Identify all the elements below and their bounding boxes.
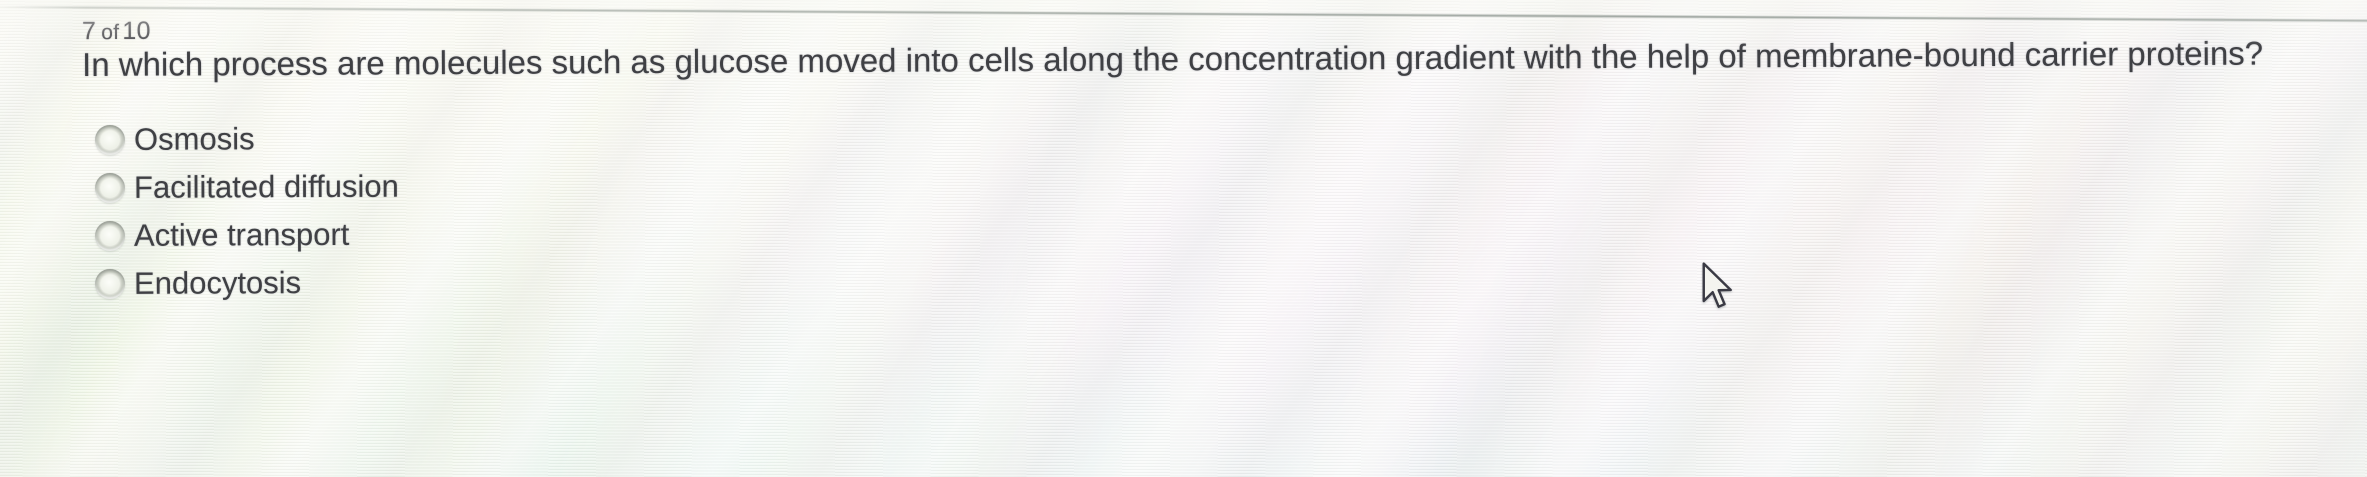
answer-option-label: Facilitated diffusion bbox=[134, 169, 399, 206]
quiz-content: 7of10 In which process are molecules suc… bbox=[0, 0, 2367, 477]
answer-option-label: Endocytosis bbox=[134, 265, 301, 302]
answer-options-list: Osmosis Facilitated diffusion Active tra… bbox=[95, 116, 399, 308]
quiz-screen-photo: 7of10 In which process are molecules suc… bbox=[0, 0, 2367, 477]
answer-option-active-transport[interactable]: Active transport bbox=[95, 211, 399, 260]
answer-option-label: Osmosis bbox=[134, 121, 255, 158]
question-counter-current: 7 bbox=[82, 17, 96, 45]
answer-option-facilitated-diffusion[interactable]: Facilitated diffusion bbox=[95, 163, 399, 212]
radio-button-icon[interactable] bbox=[95, 125, 125, 155]
mouse-cursor-arrow-icon bbox=[1700, 262, 1740, 314]
radio-button-icon[interactable] bbox=[95, 173, 125, 203]
question-counter: 7of10 bbox=[82, 17, 151, 46]
answer-option-label: Active transport bbox=[134, 217, 350, 254]
question-counter-separator: of bbox=[96, 21, 122, 44]
answer-option-endocytosis[interactable]: Endocytosis bbox=[95, 259, 399, 308]
radio-button-icon[interactable] bbox=[95, 269, 125, 299]
radio-button-icon[interactable] bbox=[95, 221, 125, 251]
question-counter-total: 10 bbox=[122, 17, 151, 45]
question-text: In which process are molecules such as g… bbox=[82, 35, 2352, 83]
answer-option-osmosis[interactable]: Osmosis bbox=[95, 115, 399, 164]
